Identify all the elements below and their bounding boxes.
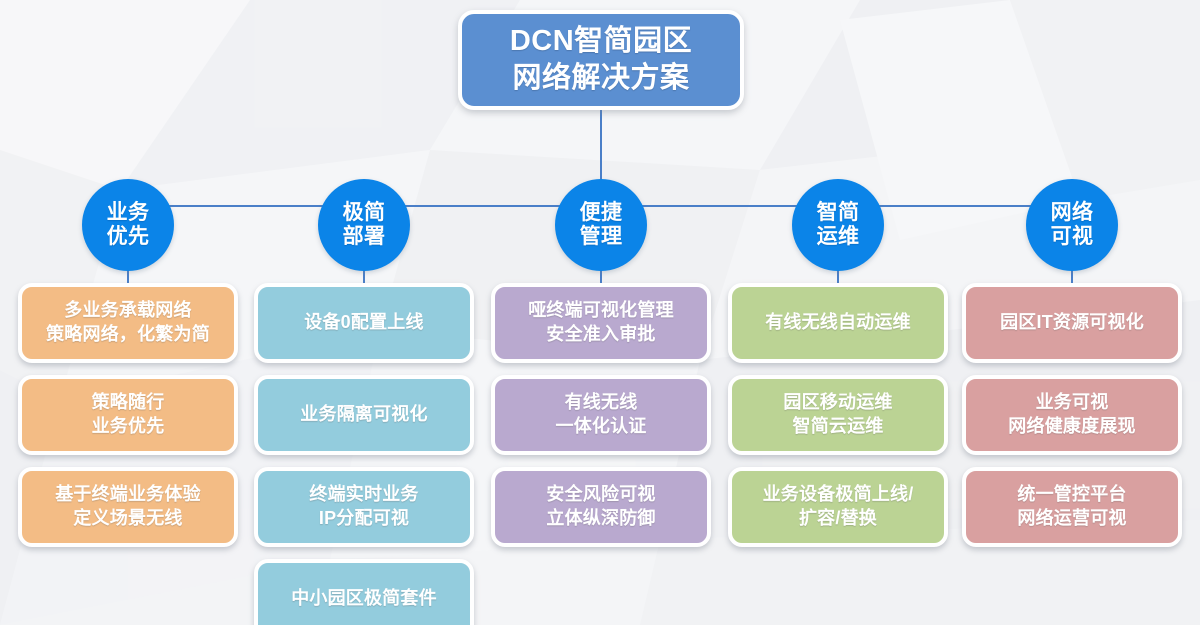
pillar-label-line-1: 智简 [817,201,860,225]
card-item[interactable]: 业务可视 网络健康度展现 [962,375,1182,455]
card-item[interactable]: 多业务承载网络 策略网络，化繁为简 [18,283,238,363]
card-line: 定义场景无线 [73,507,182,531]
card-column-network-visibility: 园区IT资源可视化 业务可视 网络健康度展现 统一管控平台 网络运营可视 [962,283,1182,547]
pillar-label-line-2: 优先 [107,225,150,249]
card-item[interactable]: 统一管控平台 网络运营可视 [962,467,1182,547]
card-line: 有线无线自动运维 [765,311,911,335]
pillar-label-line-1: 业务 [107,201,150,225]
card-column-convenient-management: 哑终端可视化管理 安全准入审批 有线无线 一体化认证 安全风险可视 立体纵深防御 [491,283,711,547]
card-line: 安全风险可视 [546,483,655,507]
card-line: 立体纵深防御 [546,507,655,531]
pillar-label-line-1: 便捷 [580,201,623,225]
card-line: 业务设备极简上线/ [763,483,914,507]
diagram-title-box: DCN智简园区 网络解决方案 [458,10,744,110]
card-item[interactable]: 基于终端业务体验 定义场景无线 [18,467,238,547]
card-line: 策略网络，化繁为简 [46,323,210,347]
card-line: 一体化认证 [556,415,647,439]
card-line: 网络运营可视 [1017,507,1126,531]
pillar-label-line-2: 可视 [1051,225,1094,249]
title-line-2: 网络解决方案 [512,60,689,97]
card-line: 网络健康度展现 [1008,415,1135,439]
pillar-circle-smart-ops[interactable]: 智简 运维 [792,179,884,271]
pillar-label-line-2: 部署 [343,225,386,249]
diagram-canvas: DCN智简园区 网络解决方案 业务 优先 极简 部署 便捷 管理 智简 运维 网… [0,0,1200,625]
card-line: 终端实时业务 [309,483,418,507]
card-item[interactable]: 有线无线自动运维 [728,283,948,363]
card-line: 园区IT资源可视化 [1000,311,1144,335]
card-column-smart-ops: 有线无线自动运维 园区移动运维 智简云运维 业务设备极简上线/ 扩容/替换 [728,283,948,547]
card-line: 业务优先 [92,415,165,439]
card-item[interactable]: 哑终端可视化管理 安全准入审批 [491,283,711,363]
pillar-circle-network-visibility[interactable]: 网络 可视 [1026,179,1118,271]
card-line: 扩容/替换 [799,507,877,531]
card-line: 基于终端业务体验 [55,483,201,507]
card-line: 业务可视 [1036,391,1109,415]
card-line: 园区移动运维 [783,391,892,415]
card-item[interactable]: 设备0配置上线 [254,283,474,363]
card-column-business-first: 多业务承载网络 策略网络，化繁为简 策略随行 业务优先 基于终端业务体验 定义场… [18,283,238,547]
card-line: 智简云运维 [793,415,884,439]
pillar-circle-business-first[interactable]: 业务 优先 [82,179,174,271]
pillar-label-line-2: 管理 [580,225,623,249]
card-line: IP分配可视 [319,507,409,531]
card-line: 安全准入审批 [546,323,655,347]
card-item[interactable]: 园区移动运维 智简云运维 [728,375,948,455]
card-item[interactable]: 中小园区极简套件 [254,559,474,625]
card-line: 有线无线 [565,391,638,415]
pillar-label-line-2: 运维 [817,225,860,249]
pillar-circle-simple-deployment[interactable]: 极简 部署 [318,179,410,271]
card-line: 中小园区极简套件 [291,587,437,611]
card-item[interactable]: 业务设备极简上线/ 扩容/替换 [728,467,948,547]
card-item[interactable]: 策略随行 业务优先 [18,375,238,455]
pillar-circle-convenient-management[interactable]: 便捷 管理 [555,179,647,271]
pillar-label-line-1: 网络 [1051,201,1094,225]
card-item[interactable]: 终端实时业务 IP分配可视 [254,467,474,547]
card-item[interactable]: 业务隔离可视化 [254,375,474,455]
card-line: 哑终端可视化管理 [528,299,674,323]
card-item[interactable]: 园区IT资源可视化 [962,283,1182,363]
card-item[interactable]: 有线无线 一体化认证 [491,375,711,455]
card-line: 业务隔离可视化 [300,403,427,427]
card-line: 设备0配置上线 [304,311,423,335]
card-line: 策略随行 [92,391,165,415]
card-line: 多业务承载网络 [64,299,191,323]
card-column-simple-deployment: 设备0配置上线 业务隔离可视化 终端实时业务 IP分配可视 中小园区极简套件 [254,283,474,625]
pillar-label-line-1: 极简 [343,201,386,225]
card-item[interactable]: 安全风险可视 立体纵深防御 [491,467,711,547]
title-line-1: DCN智简园区 [510,23,692,60]
card-line: 统一管控平台 [1017,483,1126,507]
